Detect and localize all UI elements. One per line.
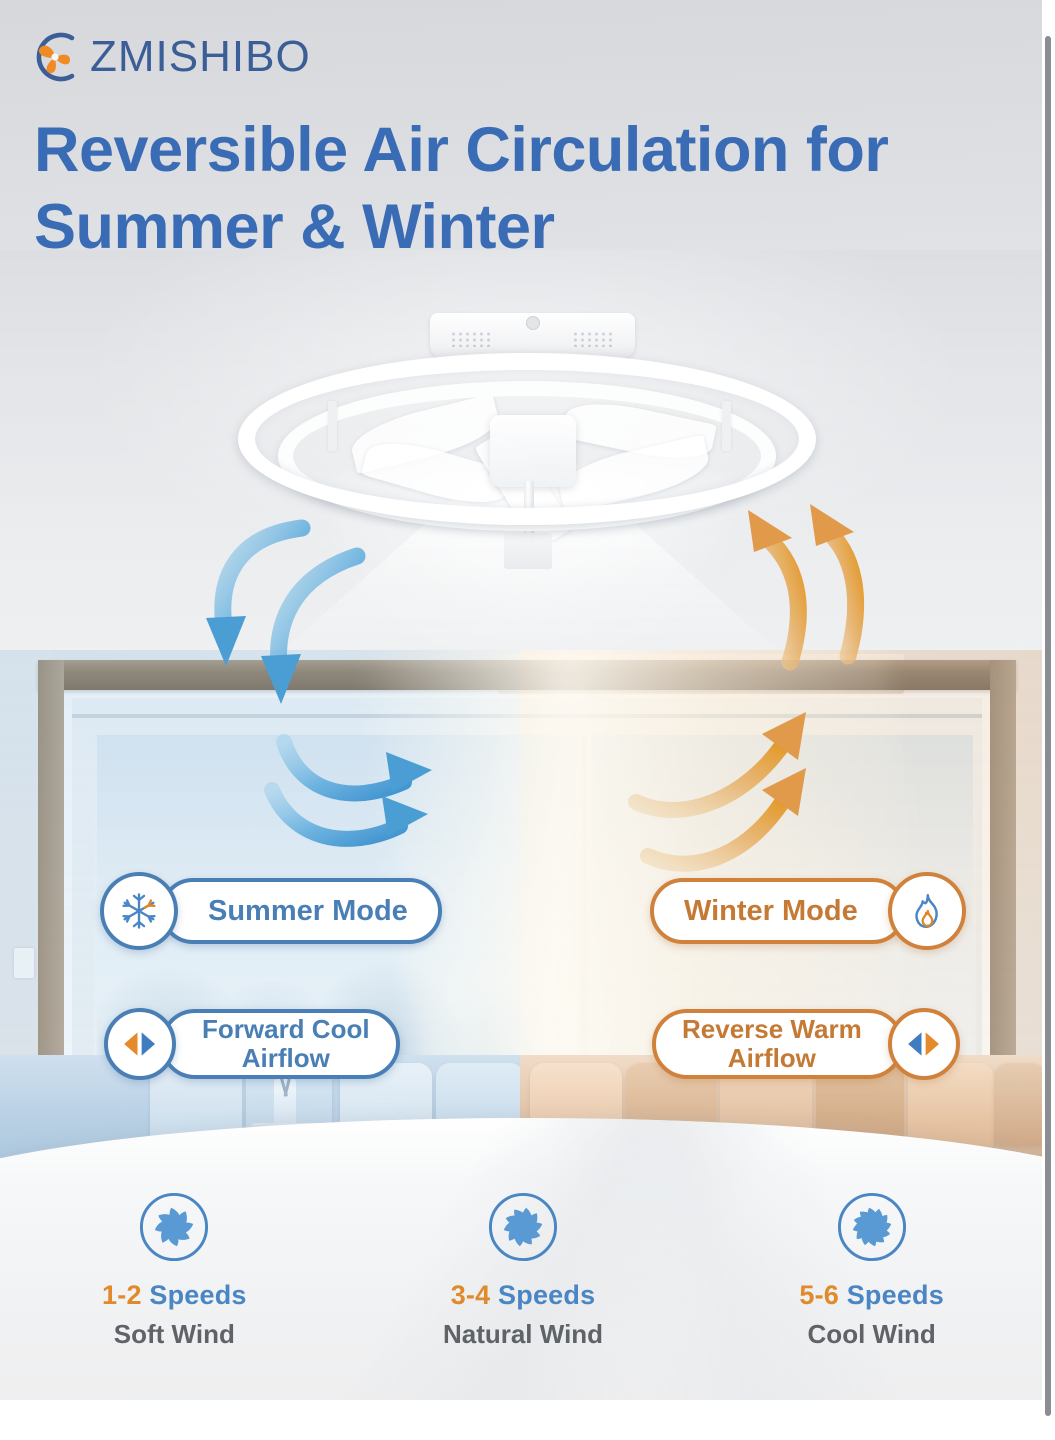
brand-logo: ZMISHIBO [26, 28, 311, 86]
speed-unit: Speeds [847, 1280, 944, 1310]
winter-mode-label: Winter Mode [650, 878, 906, 944]
speed-wind-label: Natural Wind [443, 1319, 603, 1350]
fan-mount-plate [504, 533, 552, 569]
forward-label-line-1: Forward Cool [202, 1015, 370, 1044]
bidirectional-arrows-icon [888, 1008, 960, 1080]
speed-range: 1-2 [102, 1280, 142, 1310]
reverse-warm-airflow-label: Reverse Warm Airflow [652, 1009, 904, 1079]
speed-item-1: 1-2 Speeds Soft Wind [0, 1190, 349, 1350]
speed-item-2: 3-4 Speeds Natural Wind [349, 1190, 698, 1350]
brand-name: ZMISHIBO [90, 35, 311, 79]
fan-speed-icon [835, 1190, 909, 1264]
product-infographic-page: ZMISHIBO Reversible Air Circulation for … [0, 0, 1055, 1440]
speed-wind-label: Soft Wind [114, 1319, 235, 1350]
ring-support-post [328, 401, 337, 451]
winter-mode-badge[interactable]: Winter Mode [650, 872, 966, 950]
bidirectional-arrows-icon [104, 1008, 176, 1080]
reverse-warm-airflow-badge[interactable]: Reverse Warm Airflow [652, 1008, 960, 1080]
speed-unit: Speeds [498, 1280, 595, 1310]
ring-support-post [722, 401, 731, 451]
fan-speed-icon [137, 1190, 211, 1264]
page-title: Reversible Air Circulation for Summer & … [34, 112, 1014, 266]
snowflake-icon [100, 872, 178, 950]
summer-mode-badge[interactable]: Summer Mode [100, 872, 442, 950]
summer-mode-label: Summer Mode [160, 878, 442, 944]
speed-range: 3-4 [451, 1280, 491, 1310]
fan-speed-icon [486, 1190, 560, 1264]
infographic-photo: ZMISHIBO Reversible Air Circulation for … [0, 0, 1046, 1400]
speed-range-line: 3-4 Speeds [451, 1280, 596, 1311]
forward-cool-airflow-badge[interactable]: Forward Cool Airflow [104, 1008, 400, 1080]
fan-logo-icon [26, 28, 84, 86]
speed-unit: Speeds [149, 1280, 246, 1310]
headline-line-1: Reversible Air Circulation for [34, 115, 888, 185]
reverse-label-line-1: Reverse Warm [682, 1015, 862, 1044]
scrollbar-thumb[interactable] [1045, 36, 1051, 1416]
speed-levels-section: 1-2 Speeds Soft Wind 3-4 Speeds Natural … [0, 1190, 1046, 1350]
canopy-vent-left [450, 331, 490, 347]
canopy-screw [526, 316, 540, 330]
canopy-vent-right [572, 331, 612, 347]
speed-item-3: 5-6 Speeds Cool Wind [697, 1190, 1046, 1350]
sofa-cushion [994, 1063, 1046, 1145]
flame-icon [888, 872, 966, 950]
reverse-label-line-2: Airflow [728, 1044, 816, 1073]
forward-cool-airflow-label: Forward Cool Airflow [160, 1009, 400, 1079]
scrollbar-track[interactable] [1042, 0, 1055, 1440]
speed-wind-label: Cool Wind [808, 1319, 936, 1350]
speed-range-line: 1-2 Speeds [102, 1280, 247, 1311]
speed-range-line: 5-6 Speeds [799, 1280, 944, 1311]
ceiling-fan-product [232, 305, 822, 580]
speed-range: 5-6 [799, 1280, 839, 1310]
forward-label-line-2: Airflow [242, 1044, 330, 1073]
